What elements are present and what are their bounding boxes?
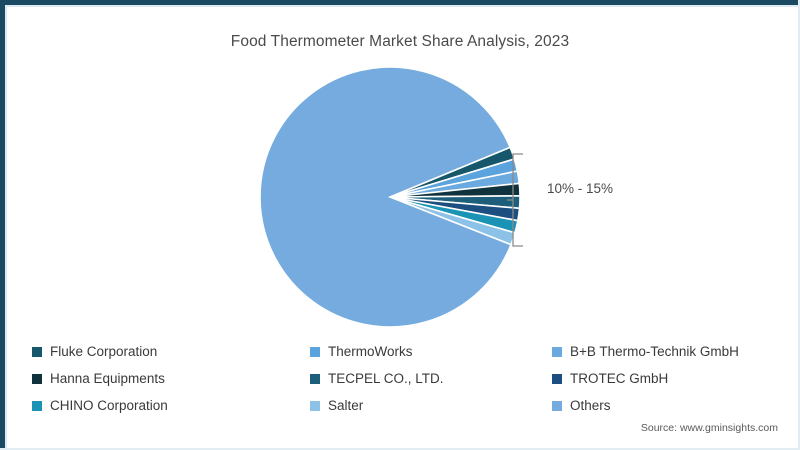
legend-swatch-icon xyxy=(310,401,320,411)
legend-swatch-icon xyxy=(310,347,320,357)
legend-item-salter[interactable]: Salter xyxy=(310,399,552,413)
chart-canvas: Food Thermometer Market Share Analysis, … xyxy=(0,0,800,450)
legend-swatch-icon xyxy=(32,401,42,411)
legend-item-thermoworks[interactable]: ThermoWorks xyxy=(310,345,552,359)
legend-item-others[interactable]: Others xyxy=(552,399,782,413)
bracket-range-label: 10% - 15% xyxy=(547,181,613,196)
legend-item-label: TROTEC GmbH xyxy=(570,372,668,386)
legend-item-hanna-equipments[interactable]: Hanna Equipments xyxy=(32,372,310,386)
legend-item-label: CHINO Corporation xyxy=(50,399,168,413)
legend-item-label: B+B Thermo-Technik GmbH xyxy=(570,345,739,359)
legend-item-label: ThermoWorks xyxy=(328,345,413,359)
legend-item-fluke-corporation[interactable]: Fluke Corporation xyxy=(32,345,310,359)
chart-title: Food Thermometer Market Share Analysis, … xyxy=(0,33,800,51)
legend-item-tecpel-co-ltd[interactable]: TECPEL CO., LTD. xyxy=(310,372,552,386)
legend-swatch-icon xyxy=(552,347,562,357)
share-bracket-annotation: 10% - 15% xyxy=(505,150,675,250)
legend-item-label: Hanna Equipments xyxy=(50,372,165,386)
source-attribution: Source: www.gminsights.com xyxy=(641,422,778,434)
legend-item-label: Fluke Corporation xyxy=(50,345,157,359)
legend-swatch-icon xyxy=(552,401,562,411)
frame-hairline-top xyxy=(5,5,800,7)
legend-swatch-icon xyxy=(32,374,42,384)
bracket-icon xyxy=(505,150,675,250)
legend-item-chino-corporation[interactable]: CHINO Corporation xyxy=(32,399,310,413)
chart-legend: Fluke Corporation ThermoWorks B+B Thermo… xyxy=(32,338,782,419)
legend-swatch-icon xyxy=(310,374,320,384)
legend-item-b-plus-b-thermo-technik-gmbh[interactable]: B+B Thermo-Technik GmbH xyxy=(552,345,782,359)
legend-swatch-icon xyxy=(552,374,562,384)
frame-hairline-left xyxy=(5,5,7,450)
legend-item-label: TECPEL CO., LTD. xyxy=(328,372,444,386)
legend-item-label: Salter xyxy=(328,399,363,413)
legend-item-trotec-gmbh[interactable]: TROTEC GmbH xyxy=(552,372,782,386)
legend-swatch-icon xyxy=(32,347,42,357)
pie-slice-group xyxy=(260,67,520,327)
legend-item-label: Others xyxy=(570,399,611,413)
